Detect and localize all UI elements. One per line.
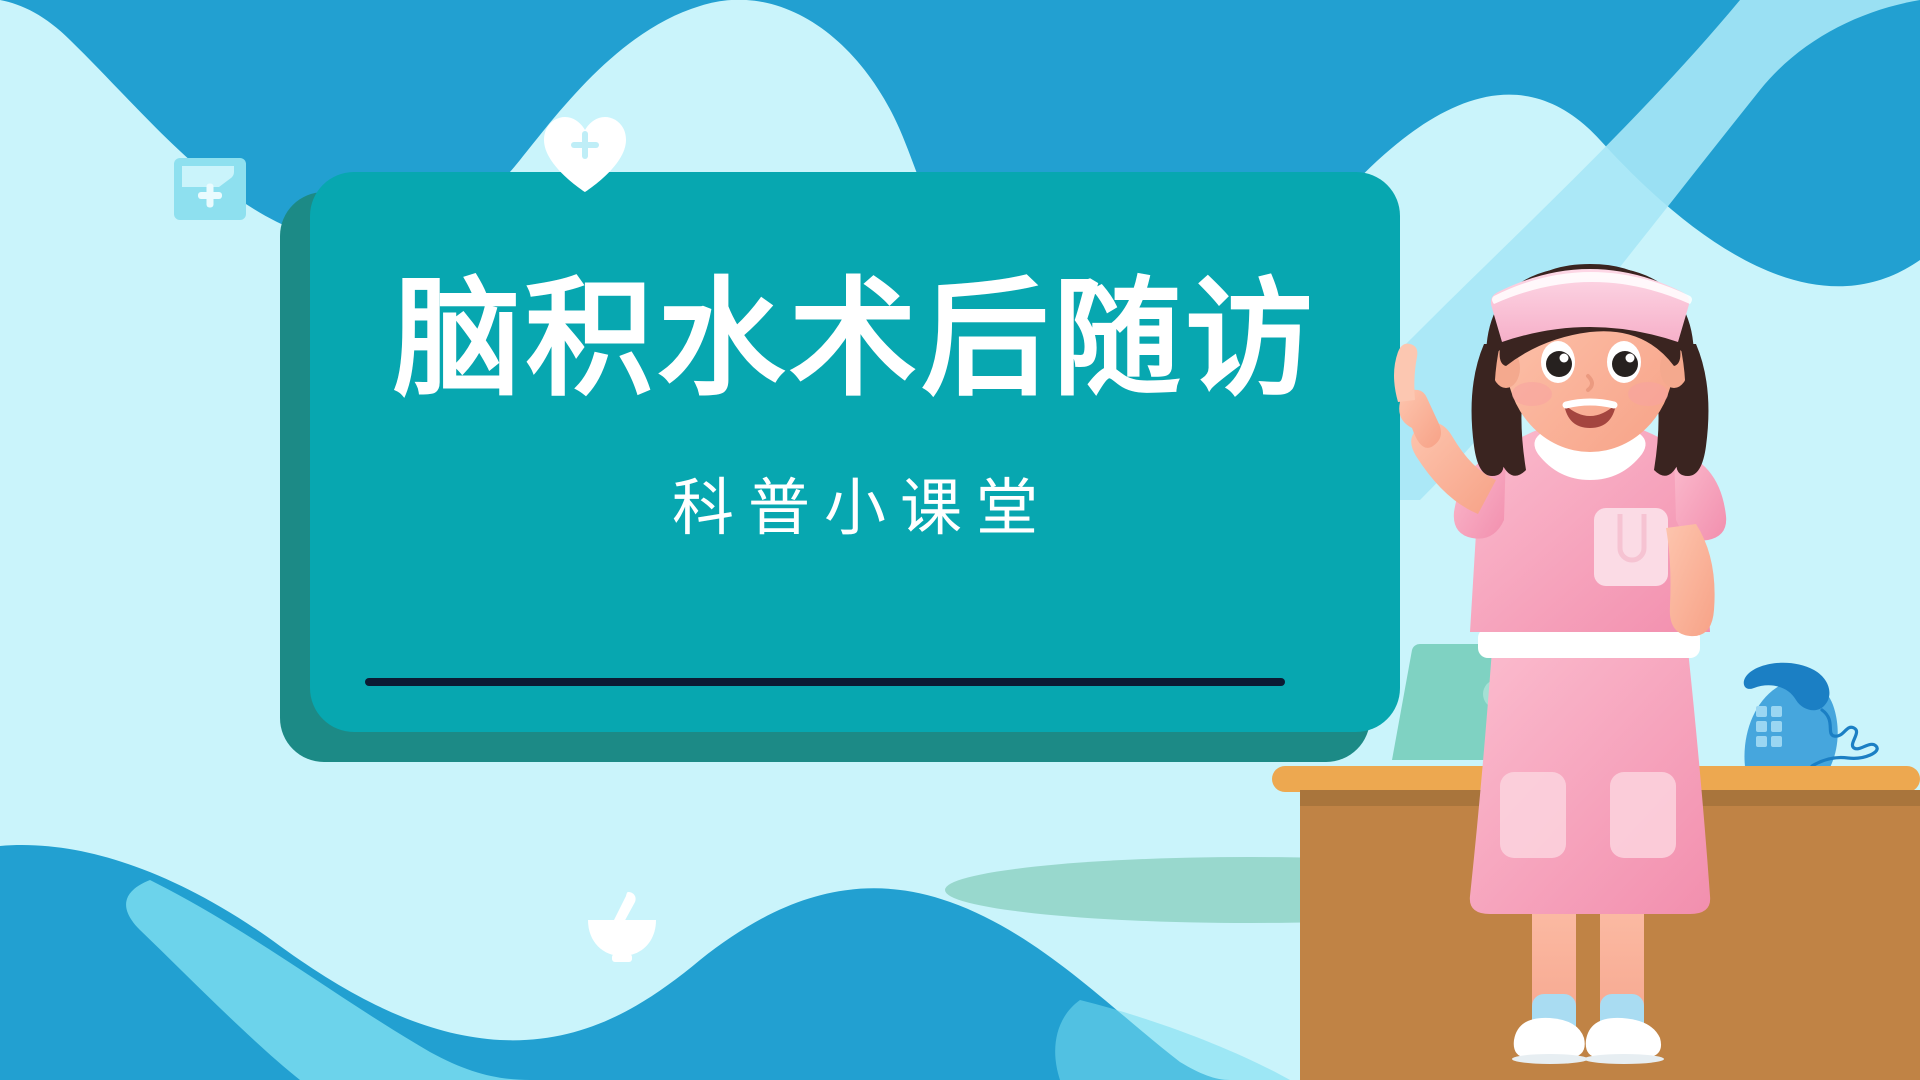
- nurse-character: [1382, 252, 1802, 1080]
- poster-canvas: 脑积水术后随访 科普小课堂: [0, 0, 1920, 1080]
- title-card-rule: [365, 678, 1285, 686]
- chest-pocket: [1594, 508, 1668, 586]
- title-card: 脑积水术后随访 科普小课堂: [310, 172, 1400, 732]
- blush-left: [1512, 382, 1552, 406]
- skirt-pocket-right: [1610, 772, 1676, 858]
- shoe-right: [1586, 1018, 1661, 1058]
- thumb: [1394, 344, 1417, 402]
- mortar-pestle-icon: [580, 888, 664, 964]
- page-subtitle: 科普小课堂: [672, 478, 1052, 540]
- skirt-pocket-left: [1500, 772, 1566, 858]
- heart-plus-icon: [538, 112, 632, 196]
- arm-right: [1666, 524, 1715, 636]
- blush-right: [1628, 382, 1668, 406]
- folder-plus-icon: [168, 148, 252, 228]
- nurse-belt: [1478, 628, 1700, 658]
- legs: [1512, 892, 1664, 1064]
- page-title: 脑积水术后随访: [393, 276, 1317, 404]
